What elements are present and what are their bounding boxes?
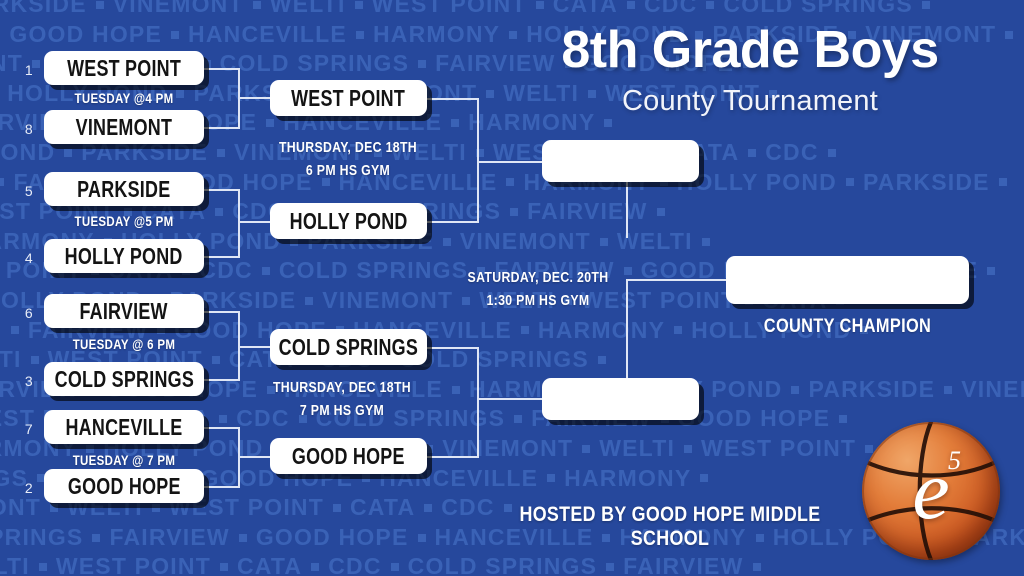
basketball-logo: e 5 xyxy=(862,422,1000,560)
game-time-text: TUESDAY @4 PM xyxy=(42,88,206,110)
final-time: 1:30 PM HS GYM xyxy=(448,289,628,312)
seed-number: 8 xyxy=(18,121,40,137)
bracket-semifinal-box[interactable] xyxy=(542,378,699,420)
hosted-by-text: HOSTED BY GOOD HOPE MIDDLE SCHOOL xyxy=(455,503,885,551)
connector-line xyxy=(427,98,479,100)
semifinal-time: 7 PM HS GYM xyxy=(252,399,432,422)
champion-label-text: COUNTY CHAMPION xyxy=(743,316,952,338)
connector-line xyxy=(204,68,240,70)
connector-line xyxy=(626,180,628,238)
logo-glyph: e xyxy=(862,422,1000,560)
bracket-team-box[interactable]: GOOD HOPE xyxy=(44,469,204,503)
bracket-team-box[interactable]: COLD SPRINGS xyxy=(44,362,204,396)
connector-line xyxy=(204,311,240,313)
team-name: WEST POINT xyxy=(67,55,181,82)
hosted-by-label: HOSTED BY GOOD HOPE MIDDLE SCHOOL xyxy=(487,503,853,551)
bracket-team-box[interactable]: FAIRVIEW xyxy=(44,294,204,328)
connector-line xyxy=(427,221,479,223)
logo-superscript: 5 xyxy=(948,446,961,476)
connector-line xyxy=(204,189,240,191)
team-name: WEST POINT xyxy=(292,85,406,112)
seed-number: 2 xyxy=(18,480,40,496)
semifinal-time: 6 PM HS GYM xyxy=(258,159,438,182)
game-time: TUESDAY @ 6 PM xyxy=(24,334,224,356)
seed-number: 6 xyxy=(18,305,40,321)
connector-line xyxy=(477,398,542,400)
connector-line xyxy=(204,127,240,129)
seed-number: 4 xyxy=(18,250,40,266)
game-time-text: TUESDAY @5 PM xyxy=(42,211,206,233)
game-time-text: TUESDAY @ 6 PM xyxy=(42,334,206,356)
bracket-team-box[interactable]: WEST POINT xyxy=(44,51,204,85)
final-date: SATURDAY, DEC. 20TH xyxy=(448,266,628,289)
connector-line xyxy=(204,486,240,488)
team-name: HOLLY POND xyxy=(289,208,407,235)
bracket-team-box[interactable]: HANCEVILLE xyxy=(44,410,204,444)
game-time: TUESDAY @4 PM xyxy=(24,88,224,110)
team-name: FAIRVIEW xyxy=(80,298,168,325)
team-name: HOLLY POND xyxy=(65,243,183,270)
bracket-team-box[interactable]: WEST POINT xyxy=(270,80,427,116)
connector-line xyxy=(204,427,240,429)
team-name: HANCEVILLE xyxy=(66,414,183,441)
connector-line xyxy=(427,347,479,349)
team-name: PARKSIDE xyxy=(77,176,170,203)
seed-number: 1 xyxy=(18,62,40,78)
connector-line xyxy=(477,347,479,458)
semifinal-info: THURSDAY, DEC 18TH 7 PM HS GYM xyxy=(232,376,452,423)
connector-line xyxy=(427,456,479,458)
champion-label: COUNTY CHAMPION xyxy=(726,316,969,338)
team-name: COLD SPRINGS xyxy=(54,366,193,393)
seed-number: 5 xyxy=(18,183,40,199)
connector-line xyxy=(477,161,542,163)
page-title: 8th Grade Boys xyxy=(500,20,1000,80)
connector-line xyxy=(238,221,270,223)
bracket-team-box[interactable]: PARKSIDE xyxy=(44,172,204,206)
page-subtitle: County Tournament xyxy=(500,85,1000,118)
game-time: TUESDAY @5 PM xyxy=(24,211,224,233)
connector-line xyxy=(238,97,270,99)
seed-number: 7 xyxy=(18,421,40,437)
semifinal-date: THURSDAY, DEC 18TH xyxy=(258,136,438,159)
game-time-text: TUESDAY @ 7 PM xyxy=(42,450,206,472)
final-info: SATURDAY, DEC. 20TH 1:30 PM HS GYM xyxy=(428,266,648,313)
team-name: GOOD HOPE xyxy=(292,443,405,470)
team-name: VINEMONT xyxy=(76,114,173,141)
connector-line xyxy=(204,256,240,258)
game-time: TUESDAY @ 7 PM xyxy=(24,450,224,472)
bracket-semifinal-box[interactable] xyxy=(542,140,699,182)
connector-line xyxy=(238,346,270,348)
connector-line xyxy=(238,456,270,458)
bracket-team-box[interactable]: GOOD HOPE xyxy=(270,438,427,474)
seed-number: 3 xyxy=(18,373,40,389)
bracket-champion-box[interactable] xyxy=(726,256,969,304)
bracket-team-box[interactable]: HOLLY POND xyxy=(270,203,427,239)
bracket-team-box[interactable]: VINEMONT xyxy=(44,110,204,144)
connector-line xyxy=(238,189,240,258)
team-name: COLD SPRINGS xyxy=(279,334,418,361)
semifinal-date: THURSDAY, DEC 18TH xyxy=(252,376,432,399)
team-name: GOOD HOPE xyxy=(68,473,181,500)
semifinal-info: THURSDAY, DEC 18TH 6 PM HS GYM xyxy=(238,136,458,183)
bracket-team-box[interactable]: COLD SPRINGS xyxy=(270,329,427,365)
bracket-team-box[interactable]: HOLLY POND xyxy=(44,239,204,273)
